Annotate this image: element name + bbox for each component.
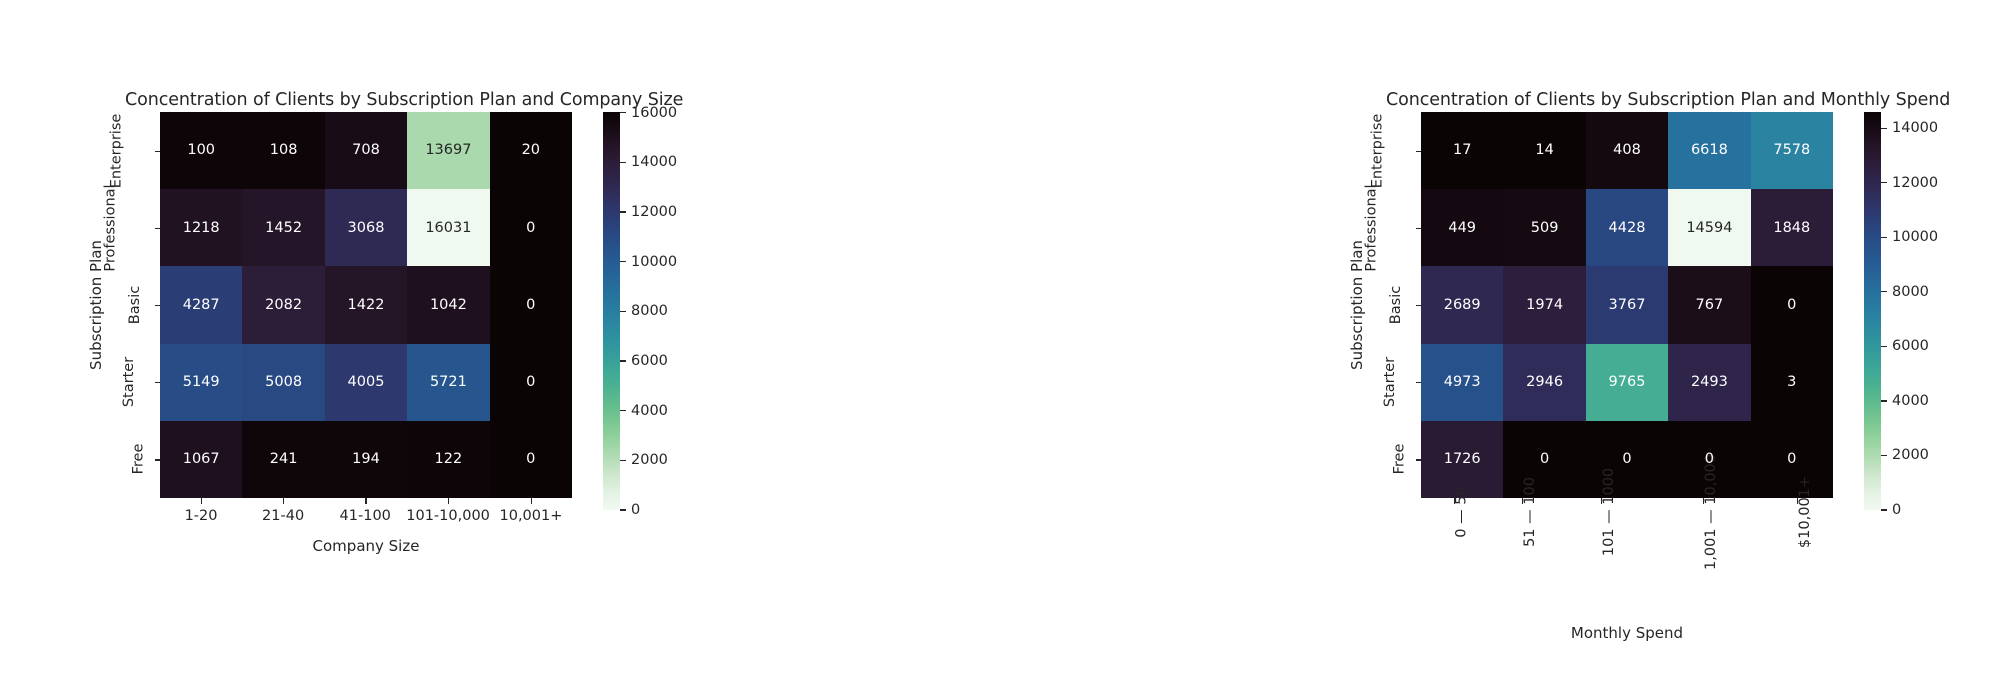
heatmap-cell-value: 16031 [425, 221, 471, 236]
heatmap-cell-value: 3068 [348, 221, 385, 236]
heatmap-cell: 5008 [242, 344, 324, 421]
heatmap-cell: 3068 [325, 189, 407, 266]
heatmap-cell-value: 1726 [1444, 452, 1481, 467]
colorbar-tick-label: 0 [631, 502, 640, 518]
heatmap-cell-value: 0 [1705, 452, 1714, 467]
heatmap-cell-value: 6618 [1691, 143, 1728, 158]
heatmap-cell: 4287 [160, 266, 242, 343]
heatmap-cell: 20 [490, 112, 572, 189]
heatmap-cell-value: 509 [1531, 221, 1559, 236]
heatmap-cell: 100 [160, 112, 242, 189]
y-tick-label: Starter [121, 357, 137, 407]
y-tick-free: Free [120, 421, 154, 498]
heatmap-cell: 0 [490, 421, 572, 498]
x-tick: 1-20 [160, 498, 242, 538]
heatmap-cell-value: 0 [1622, 452, 1631, 467]
colorbar-tick: 4000 [620, 403, 668, 419]
colorbar-tick-mark [620, 261, 626, 262]
colorbar-tick-mark [620, 112, 626, 113]
colorbar-tick-mark [620, 211, 626, 212]
heatmap-cell: 2082 [242, 266, 324, 343]
colorbar-tick: 6000 [620, 353, 668, 369]
x-tick: 10,001+ [490, 498, 572, 538]
heatmap-cell-value: 5721 [430, 375, 467, 390]
heatmap-cell: 122 [407, 421, 489, 498]
heatmap-cell-value: 449 [1448, 221, 1476, 236]
heatmap-cell-value: 9765 [1609, 375, 1646, 390]
heatmap-cell: 16031 [407, 189, 489, 266]
heatmap-cell-value: 2689 [1444, 298, 1481, 313]
heatmap-cell-value: 14 [1535, 143, 1553, 158]
heatmap-cell-value: 5008 [265, 375, 302, 390]
heatmap-cell-value: 708 [352, 143, 380, 158]
y-tick-label: Professional [102, 184, 118, 271]
heatmap-cell: 13697 [407, 112, 489, 189]
heatmap-cell-value: 3767 [1609, 298, 1646, 313]
x-tick-mark [201, 498, 202, 504]
heatmap-cell: 194 [325, 421, 407, 498]
heatmap-cell-value: 1422 [348, 298, 385, 313]
heatmap-grid: 1001087081369720121814523068160310428720… [160, 112, 572, 498]
heatmap-cell-value: 1974 [1526, 298, 1563, 313]
colorbar-tick-mark [620, 311, 626, 312]
heatmap-cell-value: 767 [1696, 298, 1724, 313]
colorbar-gradient [603, 112, 620, 510]
heatmap-cell: 0 [490, 266, 572, 343]
heatmap-cell: 108 [242, 112, 324, 189]
heatmap-cell: 241 [242, 421, 324, 498]
colorbar-tick-label: 2000 [631, 452, 668, 468]
heatmap-cell: 1042 [407, 266, 489, 343]
colorbar-tick-label: 6000 [631, 353, 668, 369]
heatmap-cell-value: 13697 [425, 143, 471, 158]
heatmap-cell: 1067 [160, 421, 242, 498]
heatmap-cell-value: 0 [526, 375, 535, 390]
heatmap-cell-value: 0 [526, 298, 535, 313]
heatmap-cell: 5149 [160, 344, 242, 421]
heatmap-panel-company-size: Concentration of Clients by Subscription… [0, 0, 665, 694]
colorbar-tick-mark [620, 509, 626, 510]
heatmap-cell-value: 241 [270, 452, 298, 467]
heatmap-cell-value: 4287 [183, 298, 220, 313]
y-tick-labels: EnterpriseProfessionalBasicStarterFree [120, 112, 154, 498]
colorbar-tick-mark [620, 162, 626, 163]
y-tick-enterprise: Enterprise [120, 112, 154, 189]
heatmap-cell-value: 14594 [1686, 221, 1732, 236]
heatmap-cell-value: 0 [1540, 452, 1549, 467]
heatmap-cell-value: 2493 [1691, 375, 1728, 390]
x-tick-mark [448, 498, 449, 504]
heatmap-cell-value: 0 [1787, 452, 1796, 467]
heatmap-cell-value: 17 [1453, 143, 1471, 158]
colorbar-tick-label: 8000 [631, 303, 668, 319]
x-axis-title: Company Size [160, 537, 572, 555]
heatmap-cell-value: 4973 [1444, 375, 1481, 390]
x-tick: 41-100 [324, 498, 406, 538]
y-tick-label: Basic [127, 286, 143, 324]
panel-title: Concentration of Clients by Subscription… [125, 90, 683, 110]
y-axis-title: Subscription Plan [86, 112, 106, 498]
heatmap-cell-value: 5149 [183, 375, 220, 390]
heatmap-cell-value: 408 [1613, 143, 1641, 158]
heatmap-cell-value: 1452 [265, 221, 302, 236]
x-tick-label: 41-100 [340, 508, 391, 524]
heatmap-cell-value: 1218 [183, 221, 220, 236]
colorbar-tick: 2000 [620, 452, 668, 468]
heatmap-cell-value: 2082 [265, 298, 302, 313]
x-tick-label: 21-40 [262, 508, 304, 524]
heatmap-cell-value: 2946 [1526, 375, 1563, 390]
heatmap-cell-value: 1042 [430, 298, 467, 313]
heatmap-panel-monthly-spend: Concentration of Clients by Subscription… [665, 0, 1330, 694]
x-tick-label: 101-10,000 [406, 508, 490, 524]
heatmap-cell-value: 1067 [183, 452, 220, 467]
colorbar-tick-label: 4000 [631, 403, 668, 419]
y-tick-professional: Professional [120, 189, 154, 266]
heatmap-cell: 1422 [325, 266, 407, 343]
heatmap-cell-value: 194 [352, 452, 380, 467]
x-tick: 101-10,000 [406, 498, 490, 538]
heatmap-cell-value: 3 [1787, 375, 1796, 390]
heatmap-panel-session-duration: Concentration of Clients by Subscription… [1330, 0, 2000, 694]
colorbar-tick: 8000 [620, 303, 668, 319]
heatmap-cell-value: 0 [526, 221, 535, 236]
x-tick-label: 10,001+ [500, 508, 563, 524]
x-tick-mark [531, 498, 532, 504]
heatmap-cell: 1218 [160, 189, 242, 266]
x-tick-label: 1-20 [185, 508, 218, 524]
heatmap-cell-value: 108 [270, 143, 298, 158]
x-tick-mark [283, 498, 284, 504]
heatmap-cell-value: 4005 [348, 375, 385, 390]
colorbar-tick-mark [620, 410, 626, 411]
heatmap-cell: 708 [325, 112, 407, 189]
y-tick-label: Free [131, 444, 147, 475]
heatmap-figure: Concentration of Clients by Subscription… [0, 0, 2000, 694]
heatmap-cell: 4005 [325, 344, 407, 421]
x-tick: 21-40 [242, 498, 324, 538]
heatmap-cell-value: 20 [522, 143, 540, 158]
colorbar-tick-mark [620, 460, 626, 461]
heatmap-cell-value: 4428 [1609, 221, 1646, 236]
colorbar: 1600014000120001000080006000400020000 [603, 112, 620, 510]
heatmap-cell-value: 1848 [1773, 221, 1810, 236]
y-tick-starter: Starter [120, 344, 154, 421]
heatmap-cell-value: 100 [187, 143, 215, 158]
y-tick-label: Enterprise [109, 113, 125, 188]
heatmap-cell-value: 0 [1787, 298, 1796, 313]
colorbar-tick: 0 [620, 502, 640, 518]
x-tick-mark [365, 498, 366, 504]
x-tick-labels: 1-2021-4041-100101-10,00010,001+ [160, 498, 572, 538]
heatmap-cell: 1452 [242, 189, 324, 266]
heatmap-cell: 0 [490, 344, 572, 421]
y-tick-basic: Basic [120, 266, 154, 343]
heatmap-cell-value: 0 [526, 452, 535, 467]
heatmap-cell-value: 7578 [1773, 143, 1810, 158]
colorbar-tick-mark [620, 360, 626, 361]
heatmap-cell-value: 122 [435, 452, 463, 467]
heatmap-cell: 0 [490, 189, 572, 266]
heatmap-cell: 5721 [407, 344, 489, 421]
